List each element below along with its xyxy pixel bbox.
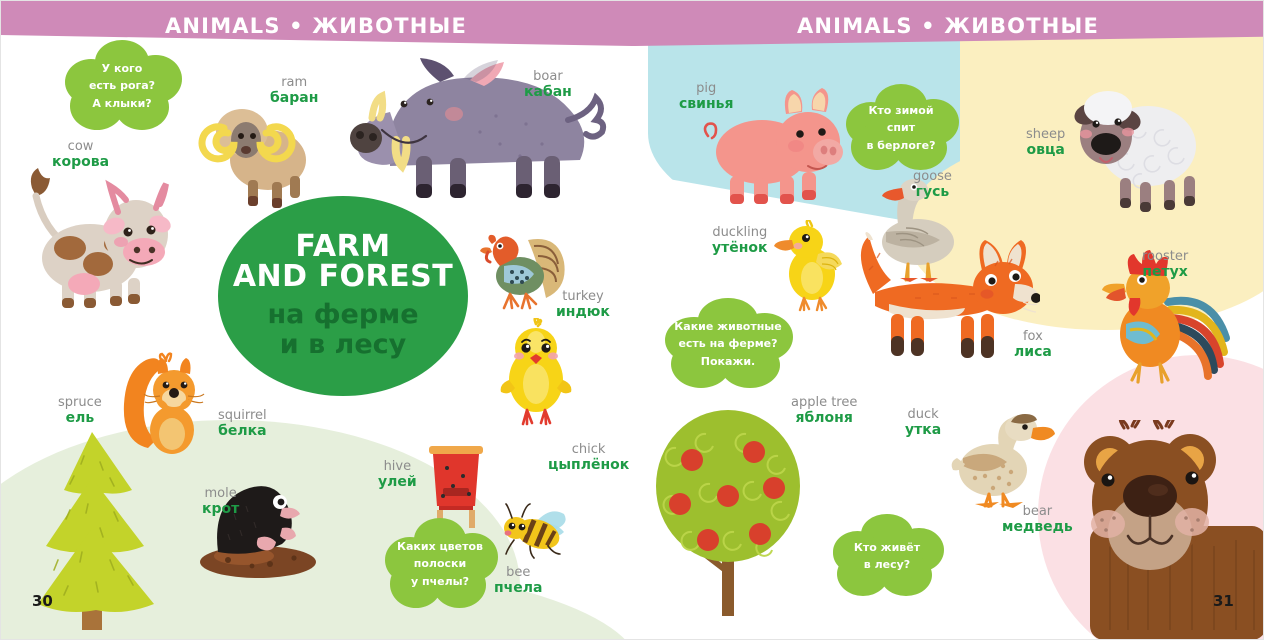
spread-border bbox=[0, 0, 1264, 640]
book-spread: ANIMALS • ЖИВОТНЫЕ ANIMALS • ЖИВОТНЫЕ bbox=[0, 0, 1264, 640]
